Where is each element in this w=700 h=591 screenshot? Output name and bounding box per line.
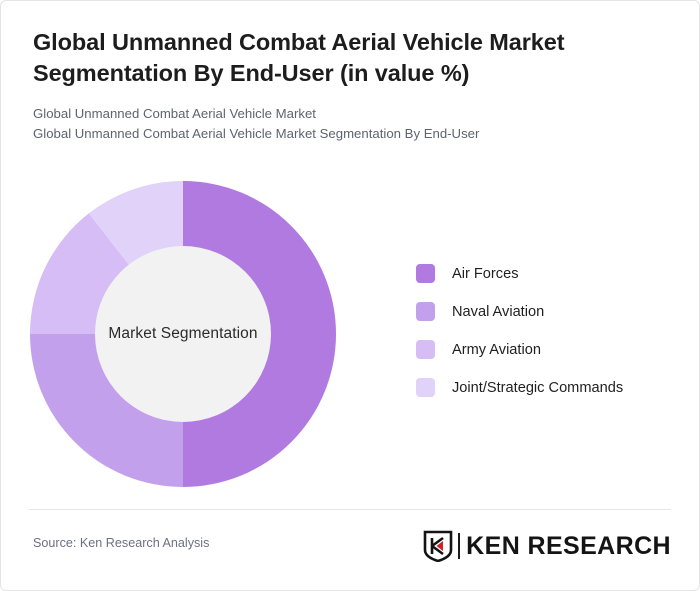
chart-card: Global Unmanned Combat Aerial Vehicle Ma… — [0, 0, 700, 591]
ken-research-shield-icon — [423, 530, 453, 562]
page-title: Global Unmanned Combat Aerial Vehicle Ma… — [33, 27, 667, 90]
donut-center-hole — [95, 246, 271, 422]
chart-legend: Air ForcesNaval AviationArmy AviationJoi… — [416, 261, 671, 400]
legend-swatch-icon — [416, 378, 435, 397]
legend-item[interactable]: Naval Aviation — [416, 299, 671, 324]
legend-swatch-icon — [416, 340, 435, 359]
legend-item[interactable]: Joint/Strategic Commands — [416, 375, 671, 400]
footer-divider — [29, 509, 671, 510]
legend-item[interactable]: Air Forces — [416, 261, 671, 286]
source-note: Source: Ken Research Analysis — [33, 536, 209, 550]
brand-name: KEN RESEARCH — [466, 532, 671, 561]
legend-item-label: Army Aviation — [452, 342, 541, 358]
donut-chart: Market Segmentation — [30, 181, 336, 487]
donut-chart-svg — [30, 181, 336, 487]
chart-footer: Source: Ken Research Analysis KEN RESEAR… — [33, 529, 671, 563]
legend-item-label: Joint/Strategic Commands — [452, 380, 623, 396]
subtitle-secondary: Global Unmanned Combat Aerial Vehicle Ma… — [33, 124, 667, 144]
legend-item-label: Naval Aviation — [452, 304, 544, 320]
chart-area: Market Segmentation Air ForcesNaval Avia… — [1, 169, 700, 499]
legend-item-label: Air Forces — [452, 266, 519, 282]
subtitle-primary: Global Unmanned Combat Aerial Vehicle Ma… — [33, 104, 667, 124]
chart-header: Global Unmanned Combat Aerial Vehicle Ma… — [33, 27, 667, 144]
brand-logo: KEN RESEARCH — [423, 529, 671, 563]
legend-swatch-icon — [416, 302, 435, 321]
legend-item[interactable]: Army Aviation — [416, 337, 671, 362]
subtitle-group: Global Unmanned Combat Aerial Vehicle Ma… — [33, 104, 667, 144]
legend-swatch-icon — [416, 264, 435, 283]
brand-separator — [458, 533, 460, 559]
